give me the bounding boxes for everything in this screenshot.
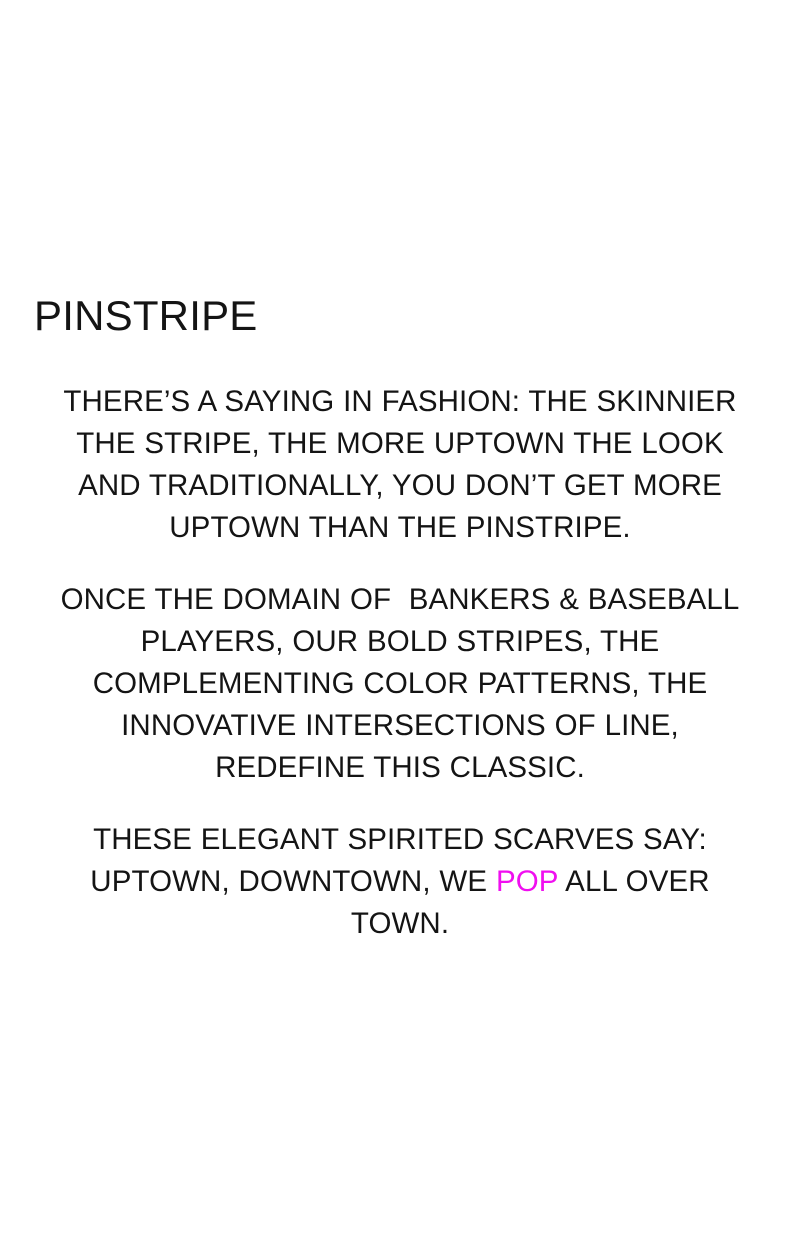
page-title: PINSTRIPE xyxy=(34,295,800,337)
page-root: PINSTRIPE THERE’S A SAYING IN FASHION: T… xyxy=(0,0,800,1227)
bottom-spacer xyxy=(0,945,800,1245)
pop-highlight-word: POP xyxy=(496,865,558,898)
copy-block: THERE’S A SAYING IN FASHION: THE SKINNIE… xyxy=(38,381,762,945)
title-block: PINSTRIPE xyxy=(0,295,800,337)
content-container: PINSTRIPE THERE’S A SAYING IN FASHION: T… xyxy=(0,0,800,1245)
body-paragraph-2: ONCE THE DOMAIN OF BANKERS & BASEBALL PL… xyxy=(58,579,742,789)
body-paragraph-3: THESE ELEGANT SPIRITED SCARVES SAY: UPTO… xyxy=(58,819,742,945)
body-paragraph-1: THERE’S A SAYING IN FASHION: THE SKINNIE… xyxy=(58,381,742,549)
